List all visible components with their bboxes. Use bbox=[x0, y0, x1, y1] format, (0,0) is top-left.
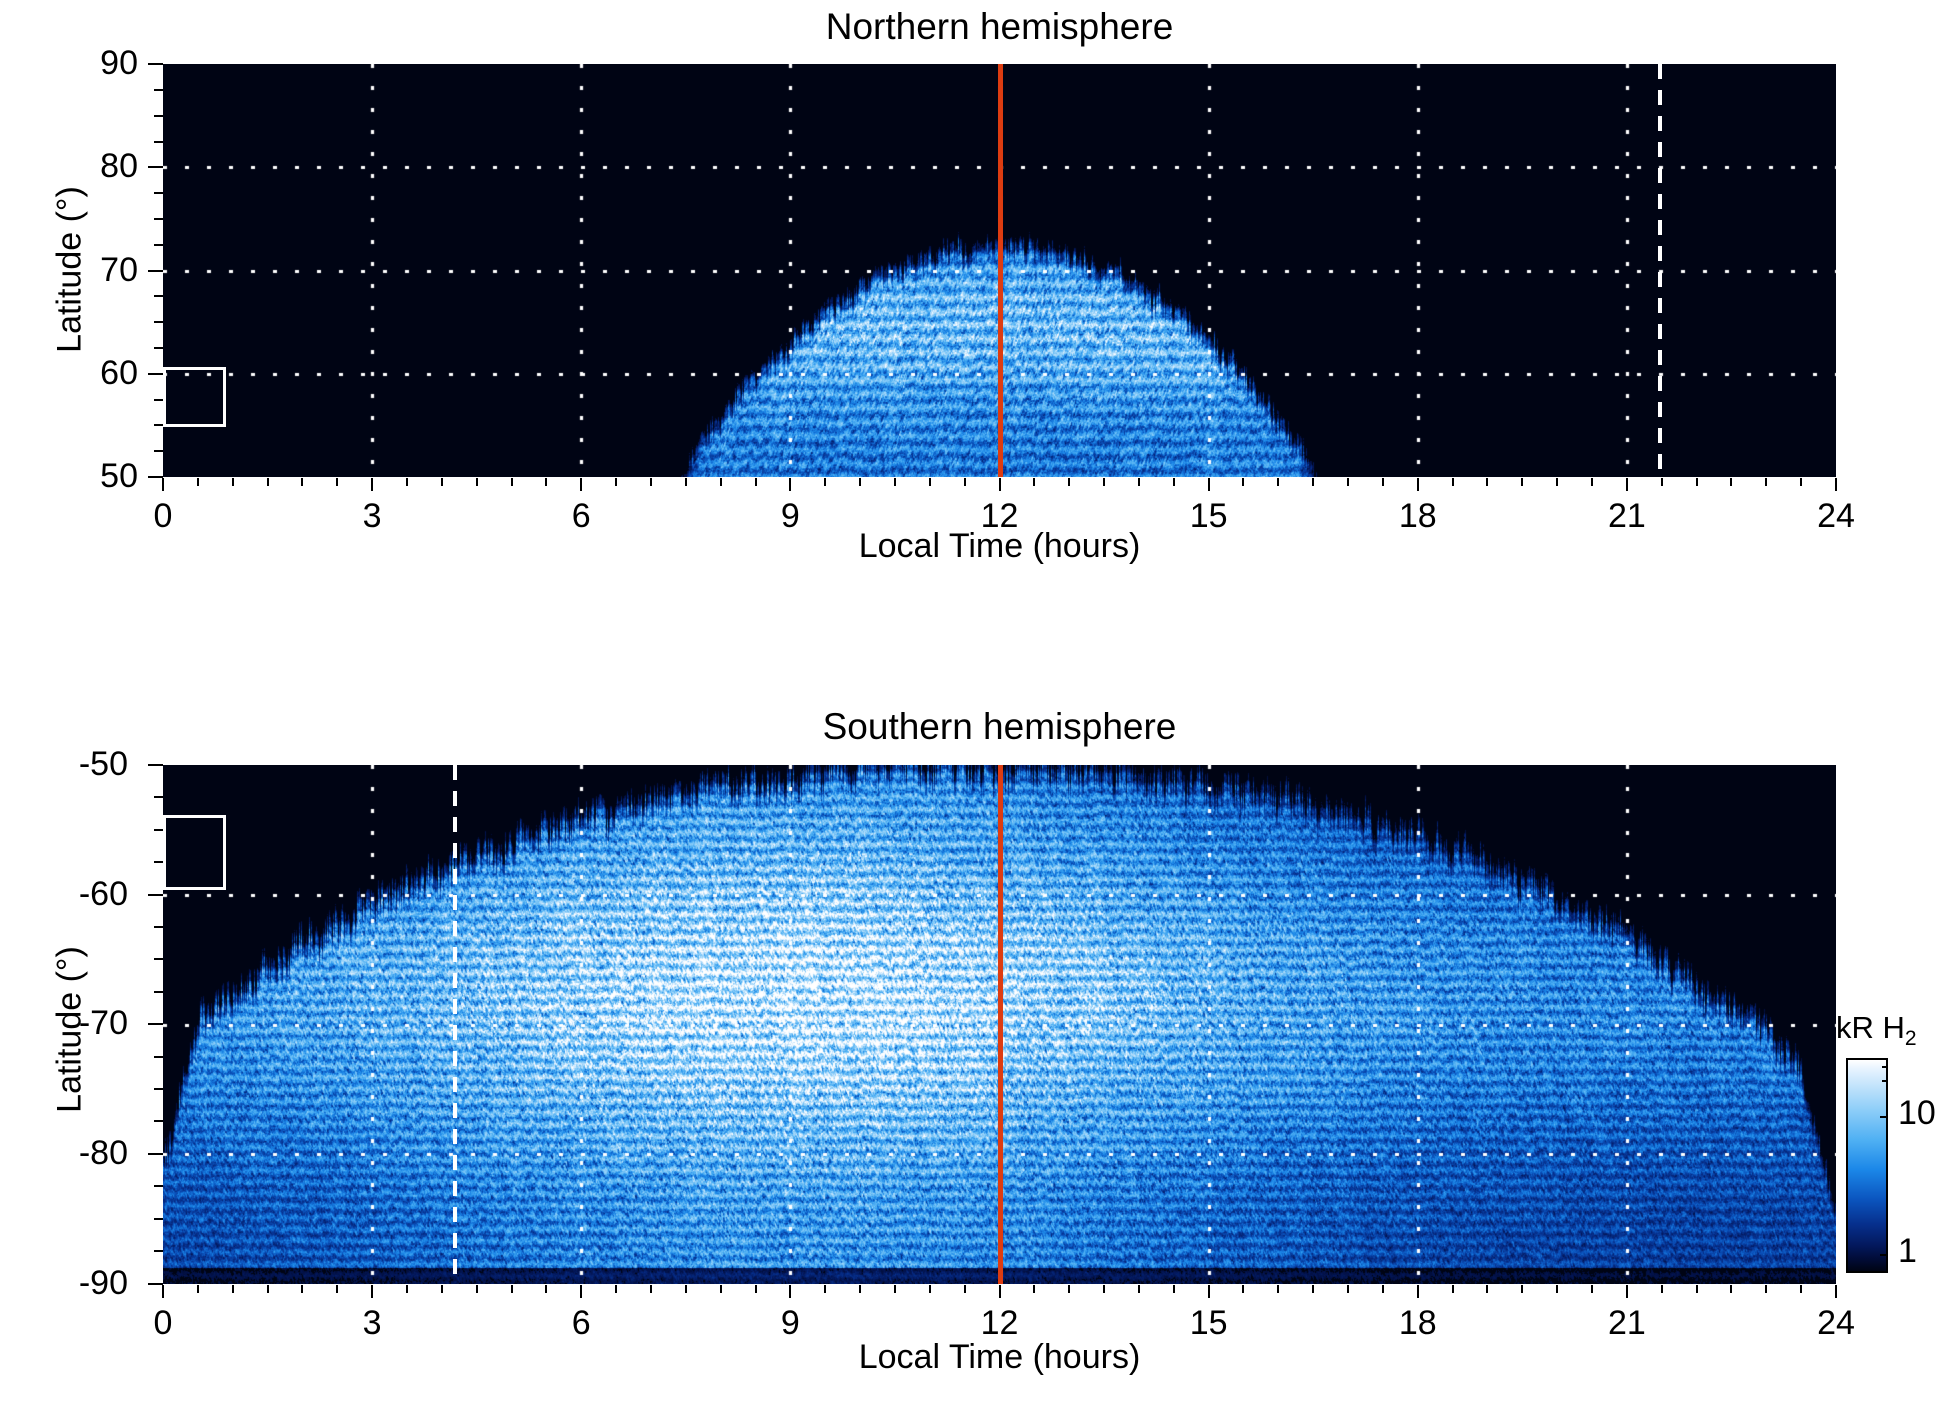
x-tick bbox=[1277, 478, 1279, 486]
x-tick bbox=[441, 478, 443, 486]
x-tick bbox=[755, 1285, 757, 1293]
x-tick bbox=[1626, 1285, 1628, 1298]
x-tick bbox=[615, 1285, 617, 1293]
x-tick bbox=[197, 478, 199, 486]
x-tick bbox=[1242, 478, 1244, 486]
x-tick bbox=[1591, 478, 1593, 486]
x-tick bbox=[1208, 1285, 1210, 1298]
x-tick bbox=[1068, 1285, 1070, 1293]
colorbar-minor-tick bbox=[1882, 1080, 1888, 1082]
x-tick bbox=[1730, 478, 1732, 486]
heatmap-panel-north bbox=[163, 64, 1836, 477]
x-tick bbox=[1800, 1285, 1802, 1293]
x-tick bbox=[371, 478, 373, 491]
colorbar-gradient bbox=[1846, 1058, 1888, 1273]
x-tick bbox=[267, 1285, 269, 1293]
x-tick bbox=[1173, 1285, 1175, 1293]
x-tick bbox=[1312, 1285, 1314, 1293]
x-tick bbox=[511, 1285, 513, 1293]
x-tick bbox=[267, 478, 269, 486]
colorbar-ticklabel-1: 1 bbox=[1898, 1232, 1917, 1271]
x-tick bbox=[1242, 1285, 1244, 1293]
x-tick bbox=[1312, 478, 1314, 486]
x-tick bbox=[1033, 1285, 1035, 1293]
x-tick bbox=[1452, 478, 1454, 486]
x-tick bbox=[964, 478, 966, 486]
pixel-size-box-north bbox=[163, 367, 226, 427]
x-tick bbox=[476, 478, 478, 486]
x-tick bbox=[1347, 478, 1349, 486]
x-tick bbox=[1765, 478, 1767, 486]
noon-marker-south bbox=[998, 765, 1003, 1284]
x-tick bbox=[1835, 1285, 1837, 1298]
x-tick bbox=[162, 478, 164, 491]
x-tick bbox=[197, 1285, 199, 1293]
colorbar-tick-10 bbox=[1880, 1116, 1888, 1118]
x-axis-label-south: Local Time (hours) bbox=[163, 1338, 1836, 1377]
x-tick bbox=[406, 1285, 408, 1293]
x-tick bbox=[1521, 478, 1523, 486]
x-tick bbox=[720, 478, 722, 486]
x-tick bbox=[1417, 478, 1419, 491]
x-tick bbox=[301, 1285, 303, 1293]
x-tick bbox=[1138, 478, 1140, 486]
x-tick bbox=[650, 1285, 652, 1293]
colorbar-title-subscript: 2 bbox=[1905, 1027, 1917, 1050]
y-ticklabel-north-90: 90 bbox=[18, 44, 138, 83]
x-tick bbox=[789, 478, 791, 491]
colorbar-minor-tick bbox=[1882, 1066, 1888, 1068]
x-tick bbox=[232, 478, 234, 486]
heatmap-panel-south bbox=[163, 765, 1836, 1284]
x-tick bbox=[999, 478, 1001, 491]
x-tick bbox=[1800, 478, 1802, 486]
colorbar-title-text: kR H bbox=[1836, 1010, 1905, 1045]
x-tick bbox=[1661, 478, 1663, 486]
x-tick bbox=[162, 1285, 164, 1298]
x-tick bbox=[720, 1285, 722, 1293]
x-tick bbox=[1103, 478, 1105, 486]
x-tick bbox=[336, 478, 338, 486]
x-tick bbox=[580, 478, 582, 491]
x-tick bbox=[1486, 1285, 1488, 1293]
x-tick bbox=[545, 1285, 547, 1293]
x-tick bbox=[1521, 1285, 1523, 1293]
x-tick bbox=[1417, 1285, 1419, 1298]
x-tick bbox=[894, 1285, 896, 1293]
x-tick bbox=[929, 1285, 931, 1293]
x-tick bbox=[1033, 478, 1035, 486]
x-tick bbox=[999, 1285, 1001, 1298]
y-ticklabel-north-50: 50 bbox=[18, 457, 138, 496]
x-tick bbox=[1068, 478, 1070, 486]
y-ticklabel-south-m50: -50 bbox=[8, 745, 128, 784]
x-axis-label-north: Local Time (hours) bbox=[163, 527, 1836, 566]
x-tick bbox=[371, 1285, 373, 1298]
x-tick bbox=[1591, 1285, 1593, 1293]
x-tick bbox=[580, 1285, 582, 1298]
x-tick bbox=[1556, 478, 1558, 486]
y-axis-label-north: Latitude (°) bbox=[51, 140, 90, 400]
x-tick bbox=[511, 478, 513, 486]
x-tick bbox=[1208, 478, 1210, 491]
x-tick bbox=[301, 478, 303, 486]
x-tick bbox=[336, 1285, 338, 1293]
x-tick bbox=[1765, 1285, 1767, 1293]
x-tick bbox=[859, 478, 861, 486]
panel-title-south: Southern hemisphere bbox=[163, 706, 1836, 748]
x-tick bbox=[789, 1285, 791, 1298]
x-tick bbox=[476, 1285, 478, 1293]
x-tick bbox=[406, 478, 408, 486]
x-tick bbox=[1138, 1285, 1140, 1293]
colorbar-tick-1 bbox=[1880, 1254, 1888, 1256]
y-axis-label-south: Latitude (°) bbox=[51, 900, 90, 1160]
x-tick bbox=[545, 478, 547, 486]
x-tick bbox=[1696, 1285, 1698, 1293]
figure-root: Northern hemisphere 90 80 70 60 50 03691… bbox=[0, 0, 1950, 1423]
x-tick bbox=[615, 478, 617, 486]
x-tick bbox=[1382, 478, 1384, 486]
x-tick bbox=[685, 1285, 687, 1293]
x-tick bbox=[1173, 478, 1175, 486]
x-tick bbox=[650, 478, 652, 486]
x-tick bbox=[1730, 1285, 1732, 1293]
x-tick bbox=[824, 478, 826, 486]
x-tick bbox=[1277, 1285, 1279, 1293]
x-tick bbox=[929, 478, 931, 486]
dashed-local-time-marker-north bbox=[1658, 64, 1662, 477]
x-tick bbox=[1661, 1285, 1663, 1293]
x-tick bbox=[894, 478, 896, 486]
colorbar-ticklabel-10: 10 bbox=[1898, 1094, 1936, 1133]
x-tick bbox=[1556, 1285, 1558, 1293]
x-tick bbox=[1347, 1285, 1349, 1293]
x-tick bbox=[1452, 1285, 1454, 1293]
dashed-local-time-marker-south bbox=[453, 765, 457, 1284]
x-tick bbox=[964, 1285, 966, 1293]
x-tick bbox=[1382, 1285, 1384, 1293]
x-tick bbox=[685, 478, 687, 486]
x-tick bbox=[824, 1285, 826, 1293]
x-tick bbox=[859, 1285, 861, 1293]
colorbar-title: kR H2 bbox=[1836, 1010, 1917, 1051]
x-tick bbox=[755, 478, 757, 486]
x-tick bbox=[1696, 478, 1698, 486]
x-tick bbox=[1626, 478, 1628, 491]
x-tick bbox=[232, 1285, 234, 1293]
x-tick bbox=[441, 1285, 443, 1293]
x-tick bbox=[1486, 478, 1488, 486]
x-tick bbox=[1835, 478, 1837, 491]
noon-marker-north bbox=[998, 64, 1003, 477]
pixel-size-box-south bbox=[163, 815, 226, 890]
panel-title-north: Northern hemisphere bbox=[163, 6, 1836, 48]
y-ticklabel-south-m90: -90 bbox=[8, 1264, 128, 1303]
x-tick bbox=[1103, 1285, 1105, 1293]
